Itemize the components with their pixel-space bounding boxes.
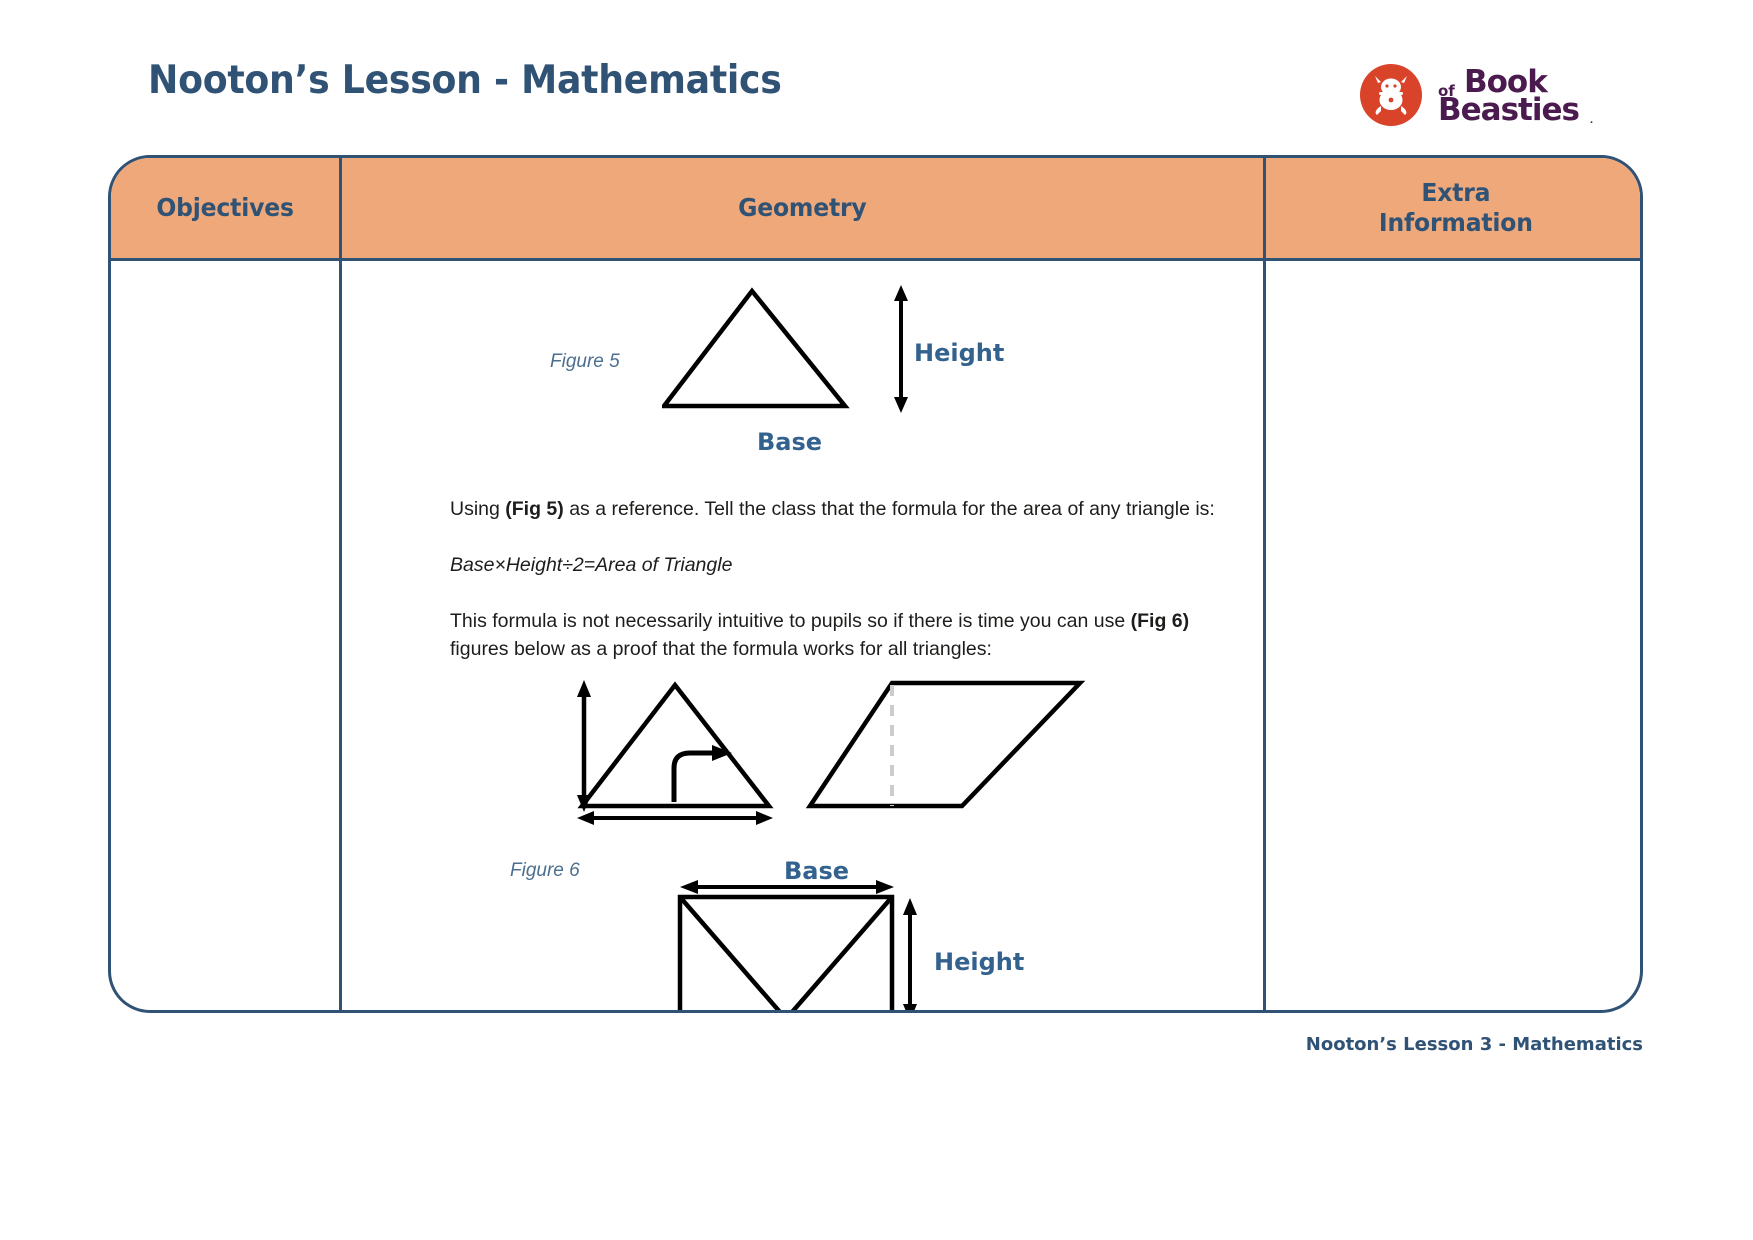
figure-6-height-label: Height — [934, 948, 1024, 976]
instruction-paragraph-2: This formula is not necessarily intuitiv… — [342, 607, 1263, 663]
para-2-bold-fig6: (Fig 6) — [1131, 610, 1190, 632]
page-title: Nooton’s Lesson - Mathematics — [148, 58, 782, 103]
page-header: Nooton’s Lesson - Mathematics of Book Be — [0, 0, 1753, 150]
column-body-objectives — [111, 261, 339, 1010]
column-header-geometry: Geometry — [342, 158, 1263, 261]
logo-wordmark: of Book Beasties . — [1438, 62, 1598, 132]
logo-beasties-text: Beasties — [1438, 95, 1579, 125]
figure-5-triangle-diagram — [662, 273, 922, 433]
figure-6-caption: Figure 6 — [510, 860, 580, 882]
instruction-paragraph-1: Using (Fig 5) as a reference. Tell the c… — [342, 495, 1263, 523]
figure-5-caption: Figure 5 — [550, 351, 620, 373]
para-2-after: figures below as a proof that the formul… — [450, 638, 992, 660]
column-header-extra-information: Extra Information — [1266, 158, 1643, 261]
figure-5-height-label: Height — [914, 339, 1004, 367]
column-header-objectives-label: Objectives — [156, 193, 293, 223]
figure-5-base-label: Base — [757, 428, 822, 456]
area-formula: Base×Height÷2=Area of Triangle — [342, 554, 1263, 577]
column-header-objectives: Objectives — [111, 158, 339, 261]
brand-logo: of Book Beasties . — [1360, 62, 1598, 132]
lesson-plan-table: Objectives Geometry Figure 5 Height Base — [108, 155, 1643, 1013]
logo-registered-mark: . — [1590, 114, 1593, 126]
extra-header-line-1: Extra — [1422, 178, 1491, 207]
para-1-before: Using — [450, 498, 505, 520]
page-footer: Nooton’s Lesson 3 - Mathematics — [0, 1034, 1753, 1055]
para-1-bold-fig5: (Fig 5) — [505, 498, 564, 520]
column-body-geometry: Figure 5 Height Base Using (Fig 5) as a … — [342, 273, 1263, 1013]
column-body-extra-information — [1266, 261, 1643, 1010]
figure-6-top-diagrams — [572, 675, 1092, 840]
column-header-extra-information-label: Extra Information — [1379, 178, 1533, 238]
figure-6-base-label: Base — [784, 857, 849, 885]
column-objectives: Objectives — [111, 158, 339, 1010]
column-geometry: Geometry Figure 5 Height Base Using (Fig… — [339, 158, 1266, 1010]
beast-mascot-icon — [1372, 73, 1410, 115]
figure-6-block: Figure 6 Base Height — [342, 675, 1263, 1013]
column-header-geometry-label: Geometry — [738, 193, 866, 223]
footer-lesson-reference: Nooton’s Lesson 3 - Mathematics — [1306, 1034, 1643, 1055]
figure-5-block: Figure 5 Height Base — [342, 273, 1263, 473]
para-1-after: as a reference. Tell the class that the … — [564, 498, 1215, 520]
column-extra-information: Extra Information — [1266, 158, 1643, 1010]
extra-header-line-2: Information — [1379, 208, 1533, 237]
para-2-before: This formula is not necessarily intuitiv… — [450, 610, 1131, 632]
